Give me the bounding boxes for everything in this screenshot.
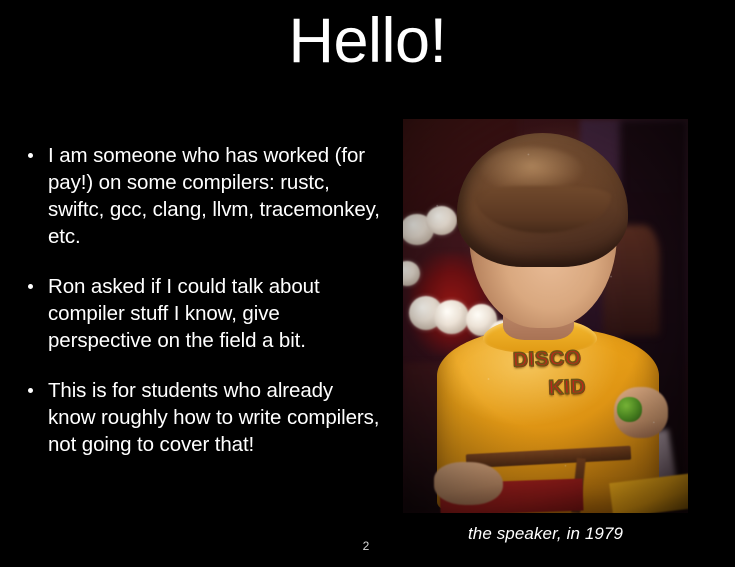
shirt-print-line-1: DISCO (468, 347, 628, 373)
slide-number: 2 (356, 539, 376, 553)
bullet-list: I am someone who has worked (for pay!) o… (22, 142, 382, 458)
list-item: This is for students who already know ro… (22, 377, 382, 458)
bullet-text: This is for students who already know ro… (48, 379, 379, 456)
bullet-dot-icon (28, 153, 33, 158)
bullet-dot-icon (28, 388, 33, 393)
speaker-photo: DISCO KID (403, 119, 688, 513)
bullet-dot-icon (28, 284, 33, 289)
photo-caption: the speaker, in 1979 (403, 524, 688, 544)
list-item: Ron asked if I could talk about compiler… (22, 273, 382, 354)
shirt-print: DISCO KID (476, 347, 630, 439)
photo-hand (434, 462, 502, 505)
bullet-text: Ron asked if I could talk about compiler… (48, 275, 320, 352)
list-item: I am someone who has worked (for pay!) o… (22, 142, 382, 250)
bullet-text: I am someone who has worked (for pay!) o… (48, 144, 380, 248)
presentation-slide: Hello! I am someone who has worked (for … (0, 0, 735, 567)
shirt-print-line-2: KID (507, 376, 629, 400)
photo-subject: DISCO KID (403, 119, 688, 513)
page-title: Hello! (0, 8, 735, 74)
photo-green-object (617, 397, 643, 423)
photo-background: DISCO KID (403, 119, 688, 513)
